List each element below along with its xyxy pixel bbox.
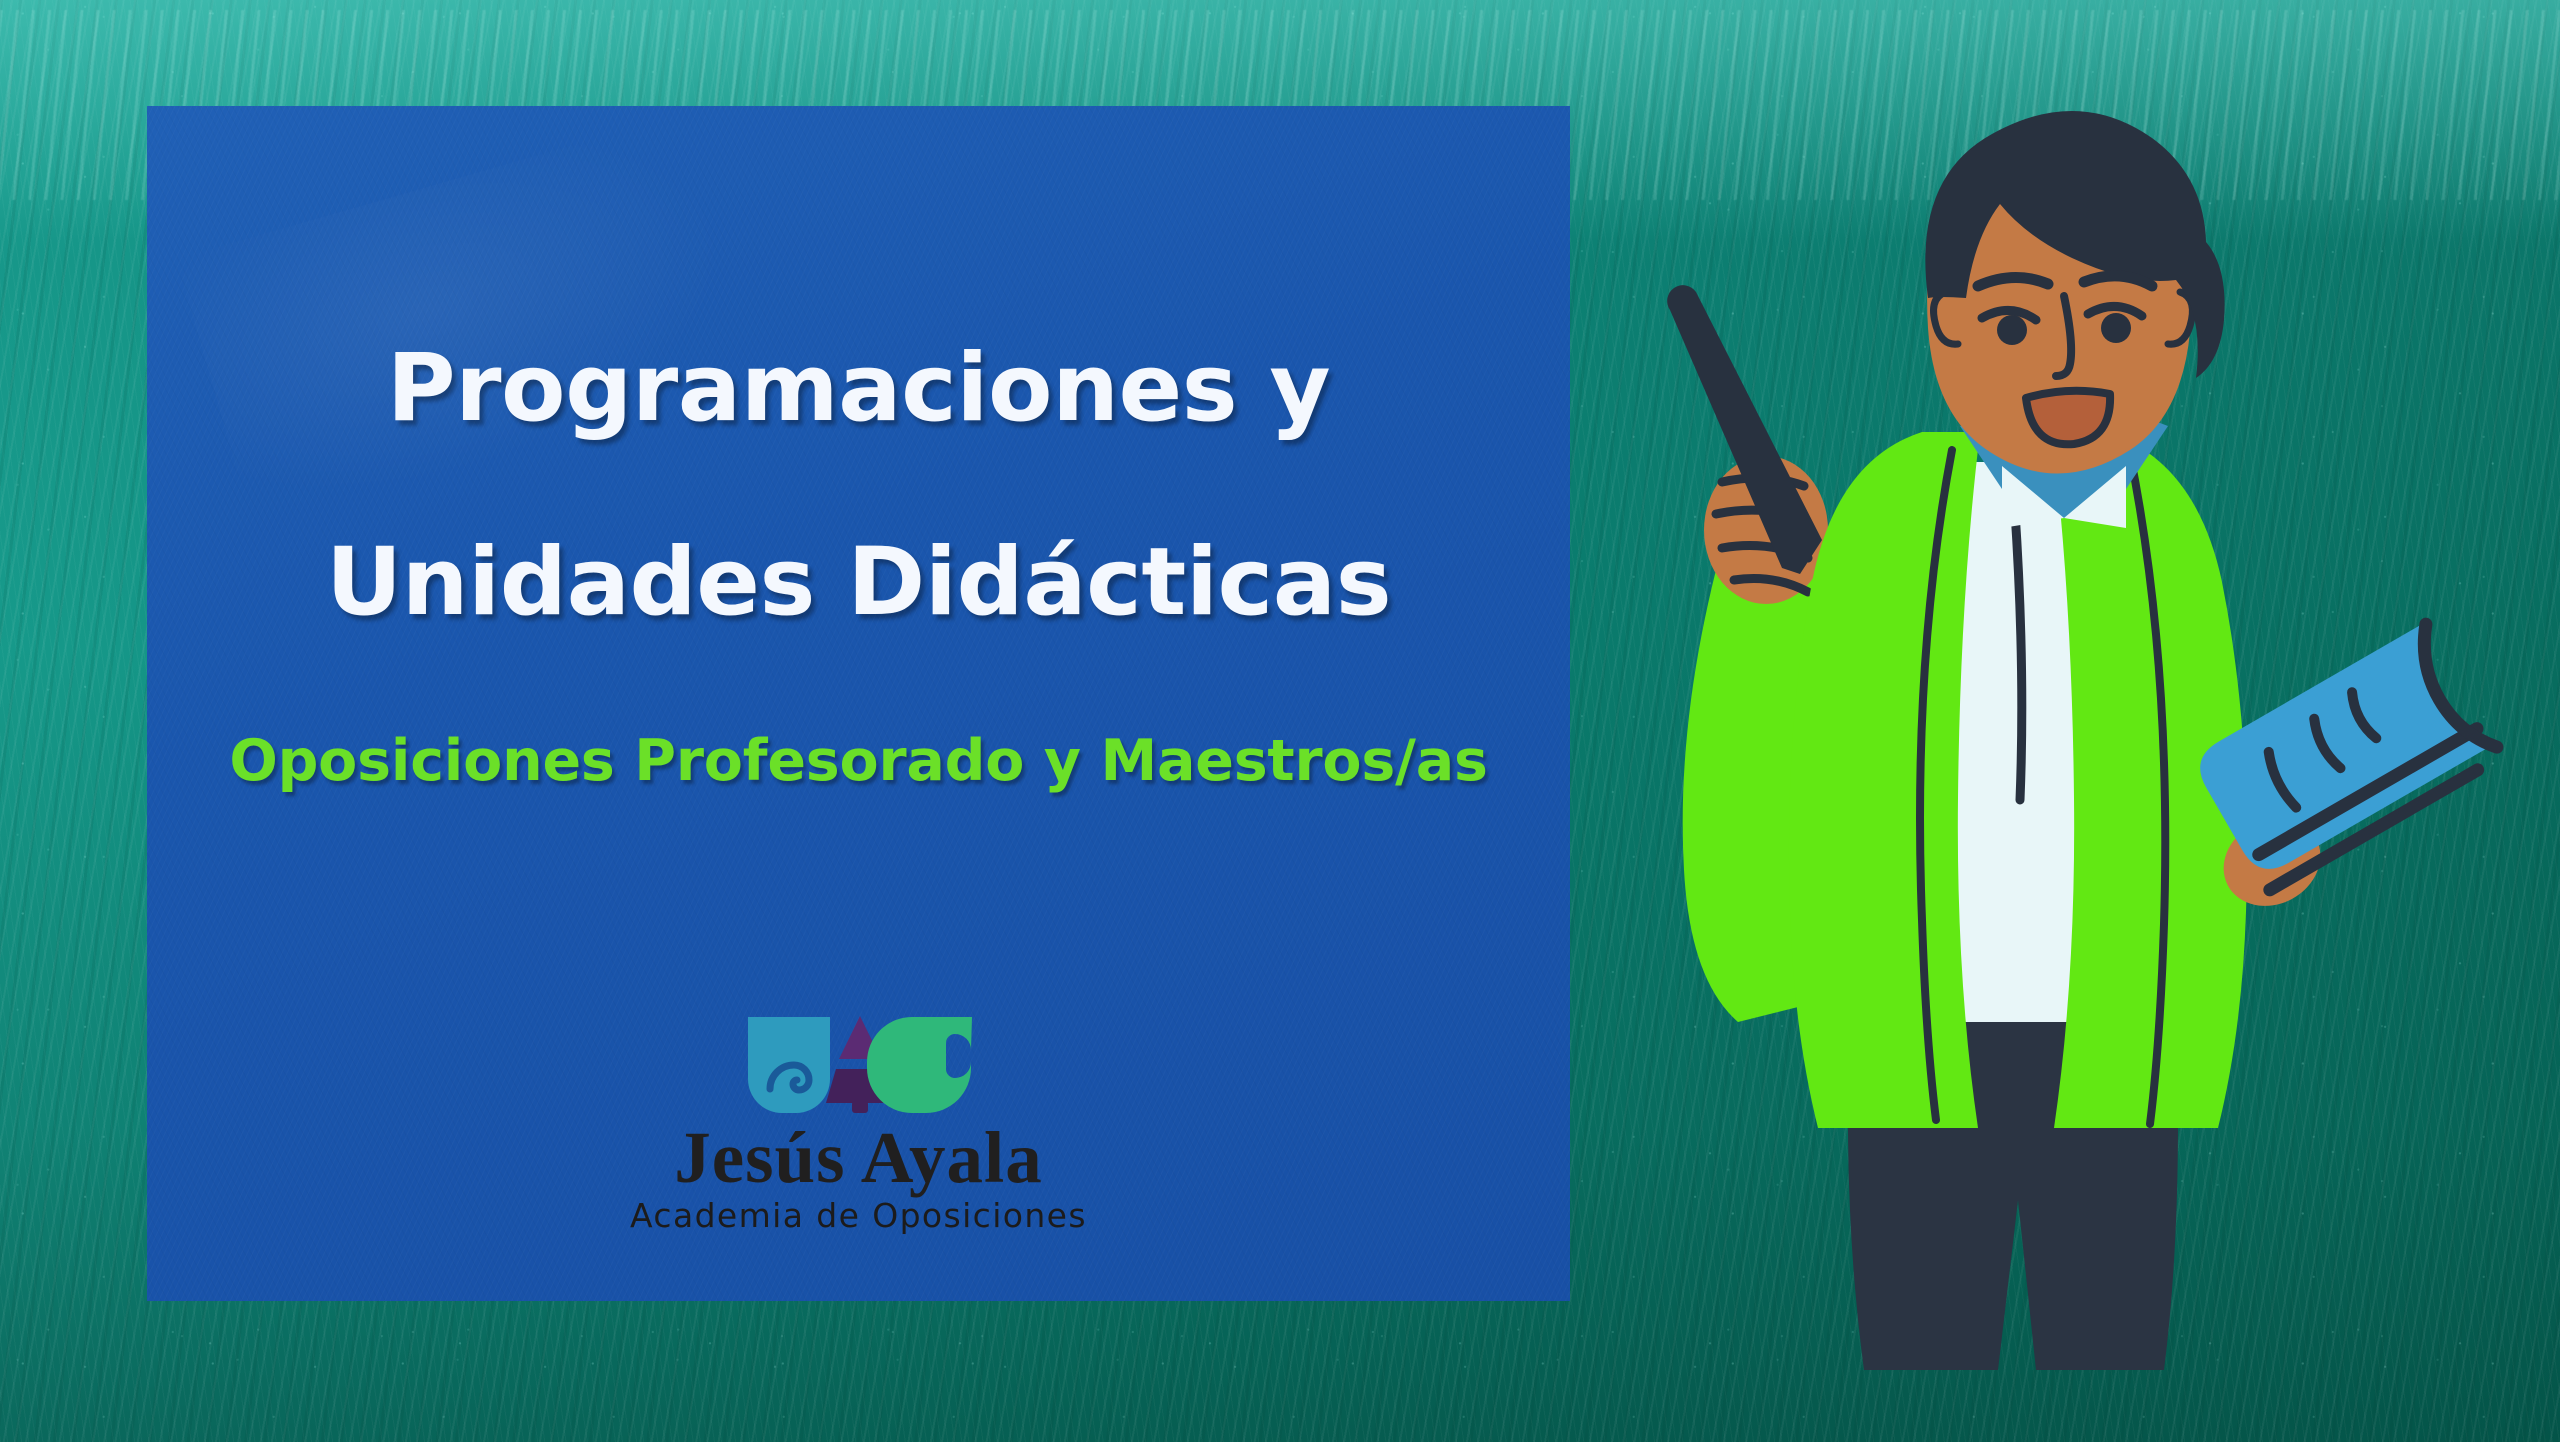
page-title-line-2: Unidades Didácticas xyxy=(147,536,1570,630)
character-mouth xyxy=(2026,391,2110,444)
logo-c-shape xyxy=(867,1017,972,1113)
slide-canvas: Programaciones y Unidades Didácticas Opo… xyxy=(0,0,2560,1442)
page-subtitle: Oposiciones Profesorado y Maestros/as xyxy=(147,728,1570,794)
academy-logo-mark xyxy=(744,1011,974,1119)
character-eye-left xyxy=(1997,315,2027,345)
title-block: Programaciones y Unidades Didácticas xyxy=(147,342,1570,630)
logo-a-foot xyxy=(852,1101,868,1113)
page-title-line-1: Programaciones y xyxy=(147,342,1570,436)
academy-logo-name: Jesús Ayala xyxy=(674,1121,1043,1194)
character-eye-right xyxy=(2101,313,2131,343)
teacher-illustration xyxy=(1660,110,2560,1442)
academy-logo-tagline: Academia de Oposiciones xyxy=(630,1196,1087,1235)
blue-content-panel: Programaciones y Unidades Didácticas Opo… xyxy=(147,106,1570,1301)
academy-logo: Jesús Ayala Academia de Oposiciones xyxy=(147,1011,1570,1235)
